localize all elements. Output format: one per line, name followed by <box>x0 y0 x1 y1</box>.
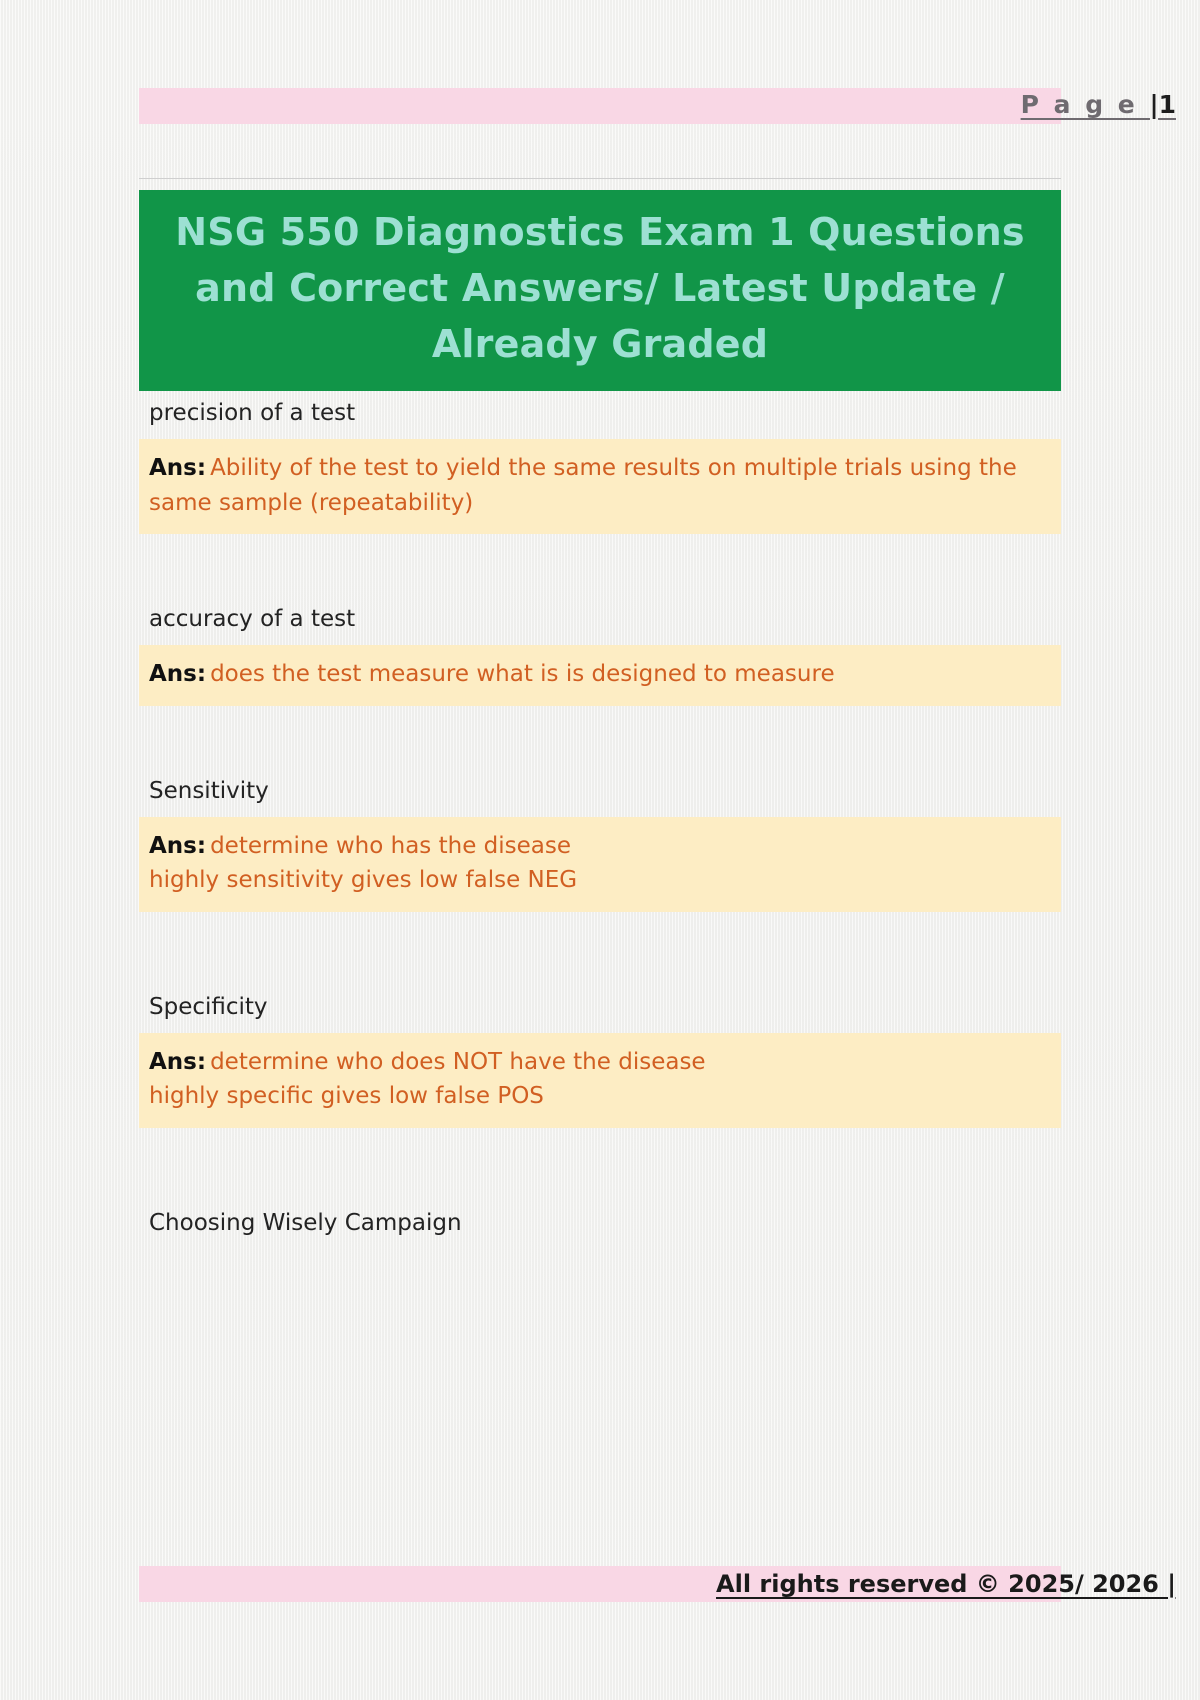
answer-text: Ability of the test to yield the same re… <box>149 455 1017 516</box>
question-text: Sensitivity <box>139 770 1061 817</box>
answer-label: Ans: <box>149 1049 206 1075</box>
answer-line: Ans:Ability of the test to yield the sam… <box>149 451 1051 520</box>
question-text: precision of a test <box>139 392 1061 439</box>
answer-text: determine who has the disease <box>210 833 571 859</box>
answer-text: does the test measure what is is designe… <box>210 661 835 687</box>
spacer <box>139 1128 1061 1202</box>
footer-copyright: All rights reserved © 2025/ 2026 | <box>716 1566 1176 1602</box>
answer-line: Ans:does the test measure what is is des… <box>149 657 1051 692</box>
document-page: P a g e |1 NSG 550 Diagnostics Exam 1 Qu… <box>0 0 1200 1700</box>
spacer <box>139 912 1061 986</box>
title-line-3: Already Graded <box>169 316 1031 372</box>
answer-text: determine who does NOT have the disease <box>210 1049 706 1075</box>
qa-block: Choosing Wisely Campaign <box>139 1202 1061 1249</box>
answer-label: Ans: <box>149 833 206 859</box>
page-label: P a g e <box>1021 90 1150 119</box>
answer-highlight: Ans:Ability of the test to yield the sam… <box>139 439 1061 534</box>
page-separator: | <box>1149 90 1158 119</box>
answer-highlight: Ans:does the test measure what is is des… <box>139 645 1061 706</box>
spacer <box>139 534 1061 598</box>
answer-line: highly specific gives low false POS <box>149 1079 1051 1114</box>
question-text: accuracy of a test <box>139 598 1061 645</box>
answer-line: highly sensitivity gives low false NEG <box>149 863 1051 898</box>
page-number: 1 <box>1159 90 1176 119</box>
question-text: Specificity <box>139 986 1061 1033</box>
spacer <box>139 706 1061 770</box>
header-highlight-band <box>139 88 1061 124</box>
title-line-1: NSG 550 Diagnostics Exam 1 Questions <box>169 204 1031 260</box>
answer-highlight: Ans:determine who has the disease highly… <box>139 817 1061 912</box>
question-text: Choosing Wisely Campaign <box>139 1202 1061 1249</box>
qa-block: accuracy of a test Ans:does the test mea… <box>139 598 1061 706</box>
qa-block: precision of a test Ans:Ability of the t… <box>139 392 1061 534</box>
answer-line: Ans:determine who does NOT have the dise… <box>149 1045 1051 1080</box>
answer-line: Ans:determine who has the disease <box>149 829 1051 864</box>
answer-label: Ans: <box>149 661 206 687</box>
title-banner: NSG 550 Diagnostics Exam 1 Questions and… <box>139 190 1061 391</box>
qa-block: Sensitivity Ans:determine who has the di… <box>139 770 1061 912</box>
title-line-2: and Correct Answers/ Latest Update / <box>169 260 1031 316</box>
header-divider <box>139 178 1061 179</box>
answer-highlight: Ans:determine who does NOT have the dise… <box>139 1033 1061 1128</box>
page-header: P a g e |1 <box>1021 90 1176 119</box>
qa-list: precision of a test Ans:Ability of the t… <box>139 392 1061 1249</box>
answer-label: Ans: <box>149 455 206 481</box>
qa-block: Specificity Ans:determine who does NOT h… <box>139 986 1061 1128</box>
